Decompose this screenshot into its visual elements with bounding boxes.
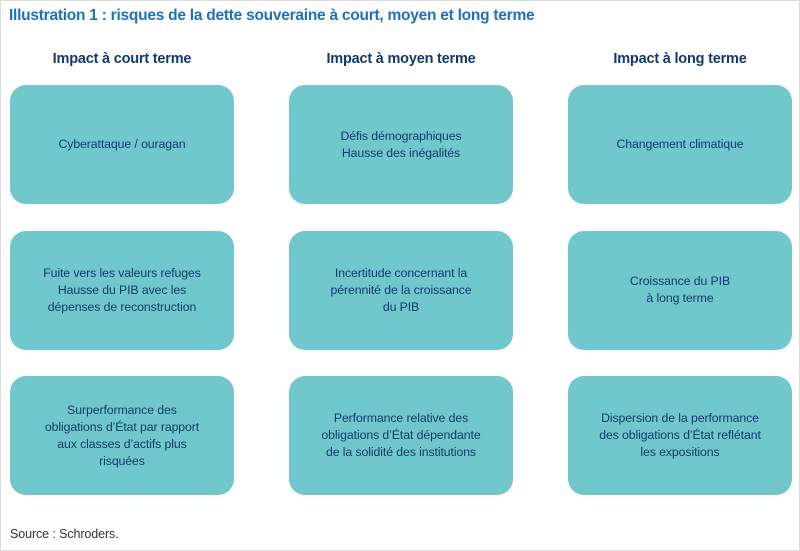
source-note: Source : Schroders. xyxy=(10,525,119,543)
matrix-cell-label: Surperformance des obligations d’État pa… xyxy=(45,402,199,470)
matrix-cell-label: Cyberattaque / ouragan xyxy=(58,136,185,153)
matrix-cell-r1c2: Défis démographiques Hausse des inégalit… xyxy=(289,85,513,204)
column-header-long-term: Impact à long terme xyxy=(568,50,792,68)
matrix-cell-label: Fuite vers les valeurs refuges Hausse du… xyxy=(43,265,201,316)
matrix-cell-r2c3: Croissance du PIB à long terme xyxy=(568,231,792,350)
matrix-cell-label: Défis démographiques Hausse des inégalit… xyxy=(340,128,461,162)
risk-matrix: Cyberattaque / ouragan Défis démographiq… xyxy=(10,85,792,495)
matrix-row: Cyberattaque / ouragan Défis démographiq… xyxy=(10,85,792,204)
column-header-short-term: Impact à court terme xyxy=(10,50,234,68)
matrix-cell-label: Incertitude concernant la pérennité de l… xyxy=(331,265,472,316)
matrix-row: Fuite vers les valeurs refuges Hausse du… xyxy=(10,231,792,350)
column-headers: Impact à court terme Impact à moyen term… xyxy=(10,50,792,68)
figure-container: Illustration 1 : risques de la dette sou… xyxy=(0,0,800,551)
page-title: Illustration 1 : risques de la dette sou… xyxy=(9,5,793,27)
matrix-cell-label: Performance relative des obligations d’É… xyxy=(321,410,480,461)
matrix-cell-label: Changement climatique xyxy=(616,136,743,153)
matrix-cell-r3c3: Dispersion de la performance des obligat… xyxy=(568,376,792,495)
matrix-cell-label: Dispersion de la performance des obligat… xyxy=(599,410,761,461)
matrix-cell-r2c1: Fuite vers les valeurs refuges Hausse du… xyxy=(10,231,234,350)
matrix-cell-r1c3: Changement climatique xyxy=(568,85,792,204)
matrix-cell-r1c1: Cyberattaque / ouragan xyxy=(10,85,234,204)
matrix-cell-r3c1: Surperformance des obligations d’État pa… xyxy=(10,376,234,495)
matrix-cell-r3c2: Performance relative des obligations d’É… xyxy=(289,376,513,495)
column-header-medium-term: Impact à moyen terme xyxy=(289,50,513,68)
matrix-cell-label: Croissance du PIB à long terme xyxy=(630,273,730,307)
matrix-row: Surperformance des obligations d’État pa… xyxy=(10,376,792,495)
matrix-cell-r2c2: Incertitude concernant la pérennité de l… xyxy=(289,231,513,350)
